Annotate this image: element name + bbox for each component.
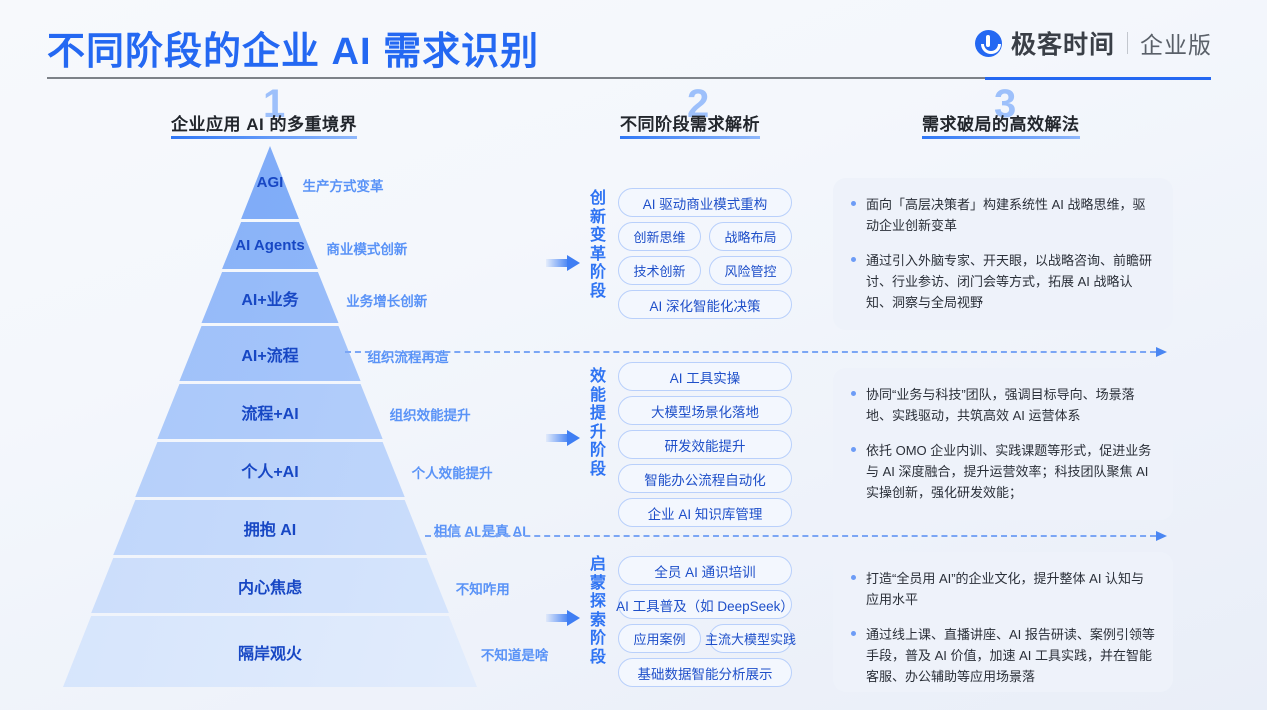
stage-label-char: 提 — [588, 405, 608, 424]
stage-label-char: 阶 — [588, 630, 608, 649]
brand-name: 极客时间 — [1011, 25, 1115, 61]
solution-bullet-text: 面向「高层决策者」构建系统性 AI 战略思维，驱动企业创新变革 — [866, 194, 1155, 236]
solution-bullet-text: 打造“全员用 AI”的企业文化，提升整体 AI 认知与应用水平 — [866, 568, 1155, 610]
stage-arrow-3 — [546, 610, 580, 626]
pyramid-tier-label: 流程+AI — [241, 400, 298, 424]
solution-panel-1: 面向「高层决策者」构建系统性 AI 战略思维，驱动企业创新变革通过引入外脑专家、… — [833, 178, 1173, 330]
stage-label-char: 阶 — [588, 264, 608, 283]
header-rule-gray — [47, 77, 985, 79]
stage-label-char: 革 — [588, 246, 608, 265]
bullet-dot-icon — [851, 631, 856, 636]
stage-pill[interactable]: AI 驱动商业模式重构 — [618, 188, 792, 217]
solution-bullet-text: 协同“业务与科技”团队，强调目标导向、场景落地、实践驱动，共筑高效 AI 运营体… — [866, 384, 1155, 426]
stage-label-char: 升 — [588, 424, 608, 443]
stage-arrow-tip-2 — [567, 430, 580, 446]
stage-label-char: 段 — [588, 283, 608, 302]
column-header-3: 3 需求破局的高效解法 — [922, 110, 1080, 139]
pyramid-tier-label: 拥抱 AI — [244, 516, 296, 540]
stage-label-char: 索 — [588, 612, 608, 631]
solution-bullet-text: 通过引入外脑专家、开天眼，以战略咨询、前瞻研讨、行业参访、闭门会等方式，拓展 A… — [866, 250, 1155, 313]
stage-divider-line-2 — [425, 535, 1156, 537]
brand-logo: 极客时间 企业版 — [975, 25, 1212, 61]
stage-divider-line-1 — [345, 351, 1156, 353]
stage-label-char: 创 — [588, 190, 608, 209]
pyramid-side-label: 个人效能提升 — [412, 462, 493, 482]
page-title: 不同阶段的企业 AI 需求识别 — [47, 20, 539, 75]
stage-divider-1 — [345, 351, 1167, 353]
column-title-3: 需求破局的高效解法 — [922, 110, 1080, 139]
stage-pill[interactable]: 研发效能提升 — [618, 430, 792, 459]
stage-pill[interactable]: 全员 AI 通识培训 — [618, 556, 792, 585]
pyramid-side-label: 组织流程再造 — [368, 346, 449, 366]
solution-bullet: 面向「高层决策者」构建系统性 AI 战略思维，驱动企业创新变革 — [851, 194, 1155, 236]
solution-bullet: 打造“全员用 AI”的企业文化，提升整体 AI 认知与应用水平 — [851, 568, 1155, 610]
stage-divider-arrow-2 — [1156, 531, 1167, 541]
pyramid-tier-label: AGI — [257, 174, 284, 191]
pyramid-tier-label: AI+业务 — [241, 286, 298, 310]
stage-pill[interactable]: 风险管控 — [709, 256, 792, 285]
pyramid-side-label: 不知道是啥 — [481, 644, 549, 664]
stage-label-char: 段 — [588, 461, 608, 480]
pyramid-tier-label: AI Agents — [235, 237, 304, 254]
stage-arrow-tip-1 — [567, 255, 580, 271]
solution-panel-3: 打造“全员用 AI”的企业文化，提升整体 AI 认知与应用水平通过线上课、直播讲… — [833, 552, 1173, 692]
bullet-dot-icon — [851, 257, 856, 262]
pyramid-tier: AI Agents — [60, 222, 480, 269]
stage-label-char: 效 — [588, 368, 608, 387]
stage-label-1: 创新变革阶段 — [588, 190, 608, 301]
bullet-dot-icon — [851, 575, 856, 580]
solution-bullet: 依托 OMO 企业内训、实践课题等形式，促进业务与 AI 深度融合，提升运营效率… — [851, 440, 1155, 503]
stage-label-char: 探 — [588, 593, 608, 612]
brand-edition: 企业版 — [1140, 26, 1212, 60]
header-bar: 不同阶段的企业 AI 需求识别 极客时间 企业版 — [0, 0, 1267, 90]
stage-pill[interactable]: 智能办公流程自动化 — [618, 464, 792, 493]
pyramid-side-label: 业务增长创新 — [346, 290, 427, 310]
geek-logo-icon — [975, 30, 1002, 57]
stage-arrow-2 — [546, 430, 580, 446]
pyramid-side-label: 商业模式创新 — [326, 238, 407, 258]
stage-label-2: 效能提升阶段 — [588, 368, 608, 479]
stage-pill[interactable]: 应用案例 — [618, 624, 701, 653]
stage-label-char: 启 — [588, 556, 608, 575]
bullet-dot-icon — [851, 447, 856, 452]
stage-divider-2 — [425, 535, 1167, 537]
pyramid-tier: AGI — [60, 146, 480, 219]
stage-pill[interactable]: 创新思维 — [618, 222, 701, 251]
bullet-dot-icon — [851, 201, 856, 206]
stage-label-char: 蒙 — [588, 575, 608, 594]
stage-label-char: 阶 — [588, 442, 608, 461]
solution-bullet-text: 依托 OMO 企业内训、实践课题等形式，促进业务与 AI 深度融合，提升运营效率… — [866, 440, 1155, 503]
stage-pill[interactable]: AI 工具实操 — [618, 362, 792, 391]
stage-divider-arrow-1 — [1156, 347, 1167, 357]
stage-label-char: 新 — [588, 209, 608, 228]
pyramid-tier-label: 个人+AI — [241, 458, 298, 482]
stage-pill[interactable]: AI 深化智能化决策 — [618, 290, 792, 319]
stage-arrow-stem-3 — [546, 614, 568, 622]
stage-pill[interactable]: AI 工具普及（如 DeepSeek） — [618, 590, 792, 619]
column-title-1: 企业应用 AI 的多重境界 — [171, 110, 357, 139]
pyramid-tier-label: 内心焦虑 — [238, 574, 302, 598]
stage-label-char: 段 — [588, 649, 608, 668]
pyramid-side-label: 相信 AI 是真 AI — [434, 520, 526, 540]
solution-bullet-text: 通过线上课、直播讲座、AI 报告研读、案例引领等手段，普及 AI 价值，加速 A… — [866, 624, 1155, 687]
pyramid-tier: 内心焦虑 — [60, 558, 480, 613]
stage-label-char: 能 — [588, 387, 608, 406]
column-title-2: 不同阶段需求解析 — [620, 110, 760, 139]
pyramid-side-label: 组织效能提升 — [390, 404, 471, 424]
stage-pill[interactable]: 企业 AI 知识库管理 — [618, 498, 792, 527]
stage-pill[interactable]: 技术创新 — [618, 256, 701, 285]
stage-arrow-stem-1 — [546, 259, 568, 267]
solution-bullet: 协同“业务与科技”团队，强调目标导向、场景落地、实践驱动，共筑高效 AI 运营体… — [851, 384, 1155, 426]
stage-label-char: 变 — [588, 227, 608, 246]
solution-panel-2: 协同“业务与科技”团队，强调目标导向、场景落地、实践驱动，共筑高效 AI 运营体… — [833, 368, 1173, 520]
column-header-1: 1 企业应用 AI 的多重境界 — [171, 110, 357, 139]
bullet-dot-icon — [851, 391, 856, 396]
pyramid-tier: 隔岸观火 — [60, 616, 480, 687]
stage-pill[interactable]: 战略布局 — [709, 222, 792, 251]
stage-arrow-1 — [546, 255, 580, 271]
stage-pill[interactable]: 大模型场景化落地 — [618, 396, 792, 425]
pyramid-tier-label: 隔岸观火 — [238, 640, 302, 664]
stage-pill[interactable]: 主流大模型实践 — [709, 624, 792, 653]
pyramid-tier-label: AI+流程 — [241, 342, 298, 366]
stage-pill[interactable]: 基础数据智能分析展示 — [618, 658, 792, 687]
pyramid-side-label: 生产方式变革 — [302, 175, 383, 195]
stage-label-3: 启蒙探索阶段 — [588, 556, 608, 667]
brand-divider — [1127, 32, 1128, 54]
header-rule-blue — [985, 77, 1211, 80]
stage-arrow-stem-2 — [546, 434, 568, 442]
solution-bullet: 通过引入外脑专家、开天眼，以战略咨询、前瞻研讨、行业参访、闭门会等方式，拓展 A… — [851, 250, 1155, 313]
solution-bullet: 通过线上课、直播讲座、AI 报告研读、案例引领等手段，普及 AI 价值，加速 A… — [851, 624, 1155, 687]
pyramid-side-label: 不知咋用 — [456, 578, 510, 598]
pyramid-tier: 拥抱 AI — [60, 500, 480, 555]
stage-arrow-tip-3 — [567, 610, 580, 626]
column-header-2: 2 不同阶段需求解析 — [620, 110, 760, 139]
